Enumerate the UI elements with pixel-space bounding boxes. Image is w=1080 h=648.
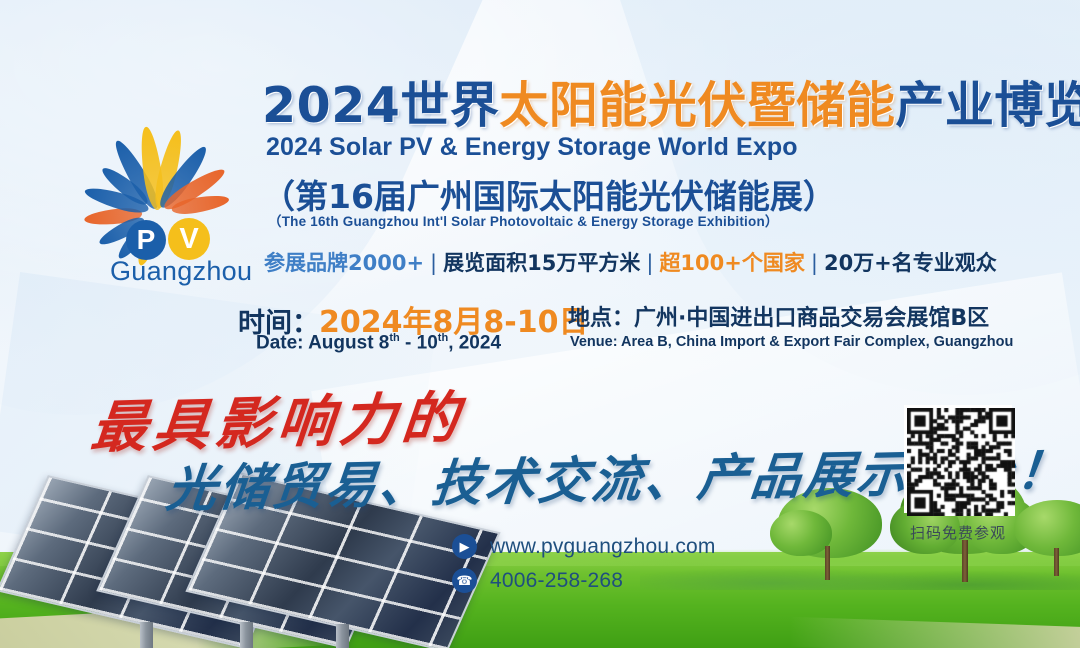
qr-code-image[interactable] [904,405,1012,513]
date-english-end: , 2024 [448,332,501,353]
phone-icon: ☎ [452,568,477,593]
logo-wordmark: Guangzhou [110,256,252,287]
stat-separator-1: | [424,251,443,275]
stat-visitors: 20万+名专业观众 [824,251,997,275]
title-part-2: 太阳能光伏暨储能 [499,77,895,134]
subtitle-english: 2024 Solar PV & Energy Storage World Exp… [266,133,798,162]
pv-guangzhou-logo: P V Guangzhou [58,104,294,294]
statistics-row: 参展品牌2000+|展览面积15万平方米|超100+个国家|20万+名专业观众 [264,247,997,277]
logo-letter-v: V [179,225,198,254]
contact-info: ▶ www.pvguangzhou.com ☎ 4006-258-268 [452,534,716,602]
date-english: Date: August 8th - 10th, 2024 [256,332,501,354]
date-english-start: Date: August 8 [256,332,389,353]
logo-badge-p: P [126,220,166,260]
main-title: 2024世界太阳能光伏暨储能产业博览会 [262,66,1080,137]
logo-letter-p: P [137,226,156,254]
title-part-3: 产业博览会 [895,77,1080,134]
date-english-mid: - 10 [400,332,438,353]
date-ordinal-1: th [389,332,399,344]
stat-exhibition-area: 展览面积15万平方米 [443,251,640,275]
stat-countries: 超100+个国家 [659,251,804,275]
title-part-1: 2024世界 [262,77,499,134]
tree-right [1010,500,1080,576]
date-ordinal-2: th [438,332,448,344]
website-row[interactable]: ▶ www.pvguangzhou.com [452,534,716,559]
stat-separator-3: | [805,251,824,275]
subtitle-chinese-english: （The 16th Guangzhou Int'l Solar Photovol… [268,210,779,230]
qr-code-block: 扫码免费参观 [897,405,1019,543]
phone-row[interactable]: ☎ 4006-258-268 [452,568,716,593]
qr-caption: 扫码免费参观 [897,522,1019,543]
venue-english: Venue: Area B, China Import & Export Fai… [570,334,1013,350]
venue-chinese: 地点：广州·中国进出口商品交易会展馆B区 [568,300,989,332]
logo-badge-v: V [168,218,210,260]
play-arrow-icon: ▶ [452,534,477,559]
website-url[interactable]: www.pvguangzhou.com [490,535,716,559]
qr-canvas [907,408,1015,516]
stat-exhibiting-brands: 参展品牌2000+ [264,251,424,275]
phone-number[interactable]: 4006-258-268 [490,569,623,593]
expo-promotional-banner: P V Guangzhou 2024世界太阳能光伏暨储能产业博览会 2024 S… [0,0,1080,648]
stat-separator-2: | [640,251,659,275]
